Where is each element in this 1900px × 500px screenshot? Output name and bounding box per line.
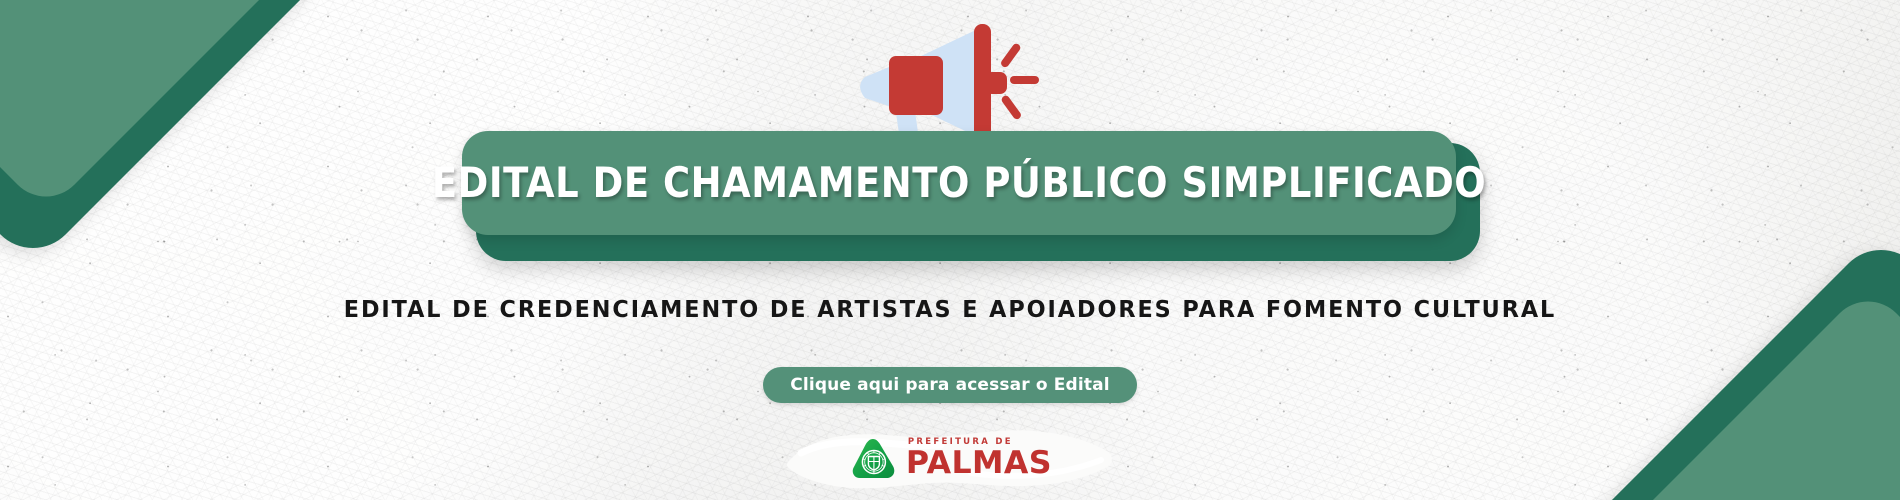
logo-wordmark: PREFEITURA DE PALMAS [906, 438, 1049, 480]
palmas-coat-of-arms-emblem-icon [851, 437, 897, 481]
prefeitura-de-palmas-logo: PREFEITURA DE PALMAS [785, 417, 1115, 500]
access-edital-button[interactable]: Clique aqui para acessar o Edital [763, 367, 1136, 403]
page-title: EDITAL DE CHAMAMENTO PÚBLICO SIMPLIFICAD… [432, 162, 1486, 204]
logo-lockup: PREFEITURA DE PALMAS [851, 437, 1049, 481]
page-subtitle: EDITAL DE CREDENCIAMENTO DE ARTISTAS E A… [29, 297, 1872, 323]
banner-edital-chamamento-publico: EDITAL DE CHAMAMENTO PÚBLICO SIMPLIFICAD… [0, 0, 1900, 500]
title-card-front-layer: EDITAL DE CHAMAMENTO PÚBLICO SIMPLIFICAD… [462, 131, 1456, 235]
title-card: EDITAL DE CHAMAMENTO PÚBLICO SIMPLIFICAD… [462, 131, 1480, 261]
cta-container: Clique aqui para acessar o Edital [0, 367, 1900, 403]
logo-city-name: PALMAS [906, 448, 1052, 479]
